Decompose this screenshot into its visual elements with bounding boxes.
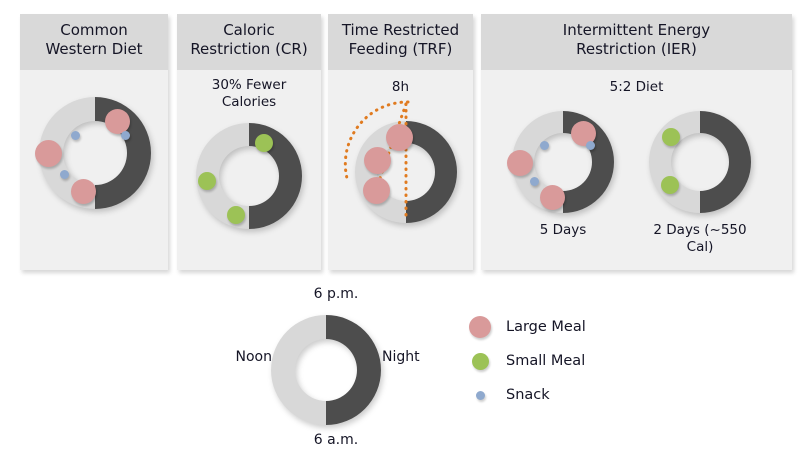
panel-common-western-diet: Common Western Diet	[20, 14, 168, 270]
meal-dot-large-meal	[386, 124, 413, 151]
meal-dot-large-meal	[71, 179, 96, 204]
panel-title-line1: Time Restricted	[332, 21, 469, 40]
panel-title-caloric-restriction: Caloric Restriction (CR)	[177, 14, 321, 70]
sublabel-line2: Calories	[177, 94, 321, 111]
panel-title-intermittent-energy-restriction: Intermittent Energy Restriction (IER)	[481, 14, 792, 70]
donut-caption-5-days: 5 Days	[507, 222, 619, 239]
donut-caption-2-days: 2 Days (~550 Cal)	[633, 222, 767, 256]
donut-clock-key	[266, 310, 386, 430]
meal-dot-snack	[121, 131, 130, 140]
feeding-window-annotation	[336, 90, 466, 230]
clock-label-top: 6 p.m.	[296, 286, 376, 303]
legend-label-large-meal: Large Meal	[498, 319, 586, 335]
legend-label-snack: Snack	[498, 387, 550, 403]
panel-body-intermittent-energy-restriction: 5:2 Diet 5 Days 2 Days (~550	[481, 70, 792, 270]
panel-title-line1: Caloric	[181, 21, 317, 40]
panel-title-common-western-diet: Common Western Diet	[20, 14, 168, 70]
panel-title-line2: Feeding (TRF)	[332, 40, 469, 59]
meal-dot-large-meal	[363, 177, 390, 204]
meal-dot-snack	[71, 131, 80, 140]
panel-intermittent-energy-restriction: Intermittent Energy Restriction (IER) 5:…	[481, 14, 792, 270]
donut-svg	[644, 106, 756, 218]
clock-label-right: Night	[382, 349, 442, 366]
panel-title-line2: Restriction (CR)	[181, 40, 317, 59]
meal-dot-snack	[530, 177, 539, 186]
donut-ier-5days-clock	[507, 106, 619, 218]
sublabel-line1: 30% Fewer	[177, 77, 321, 94]
legend-item-large-meal: Large Meal	[462, 310, 662, 344]
donut-caption-line1: 2 Days (~550	[633, 222, 767, 239]
donut-caption-line2: Cal)	[633, 239, 767, 256]
donut-cr-clock	[191, 118, 307, 234]
legend-swatch-box	[462, 391, 498, 400]
panel-title-line1: Intermittent Energy	[485, 21, 788, 40]
panel-body-common-western-diet	[20, 70, 168, 270]
legend-item-snack: Snack	[462, 378, 662, 412]
donut-cwd-clock	[34, 92, 156, 214]
panel-title-line2: Western Diet	[24, 40, 164, 59]
panel-title-line2: Restriction (IER)	[485, 40, 788, 59]
legend-label-small-meal: Small Meal	[498, 353, 585, 369]
panel-title-line1: Common	[24, 21, 164, 40]
legend-swatch-box	[462, 316, 498, 338]
panel-sublabel-intermittent-energy-restriction: 5:2 Diet	[481, 70, 792, 96]
donut-ier-2days-clock	[644, 106, 756, 218]
panel-caloric-restriction: Caloric Restriction (CR) 30% Fewer Calor…	[177, 14, 321, 270]
meal-dot-small-meal	[198, 172, 216, 190]
snack-dot-icon	[476, 391, 485, 400]
clock-label-left: Noon	[216, 349, 272, 366]
meal-dot-small-meal	[227, 206, 245, 224]
meal-dot-snack	[60, 170, 69, 179]
meal-dot-small-meal	[661, 176, 679, 194]
panel-body-caloric-restriction: 30% Fewer Calories	[177, 70, 321, 270]
small-meal-dot-icon	[472, 353, 489, 370]
panel-title-time-restricted-feeding: Time Restricted Feeding (TRF)	[328, 14, 473, 70]
panel-time-restricted-feeding: Time Restricted Feeding (TRF) 8h	[328, 14, 473, 270]
clock-label-bottom: 6 a.m.	[296, 432, 376, 449]
meal-dot-small-meal	[662, 128, 680, 146]
legend-item-small-meal: Small Meal	[462, 344, 662, 378]
meal-dot-large-meal	[507, 150, 533, 176]
meal-dot-snack	[586, 141, 595, 150]
meal-dot-small-meal	[255, 134, 273, 152]
legend: Large Meal Small Meal Snack	[462, 310, 662, 430]
donut-svg	[266, 310, 386, 430]
meal-dot-large-meal	[364, 147, 391, 174]
time-of-day-key: 6 p.m. 6 a.m. Noon Night	[196, 286, 456, 456]
panel-body-time-restricted-feeding: 8h	[328, 70, 473, 270]
panel-sublabel-caloric-restriction: 30% Fewer Calories	[177, 70, 321, 111]
donut-trf-clock	[350, 102, 474, 232]
meal-dot-large-meal	[35, 140, 62, 167]
legend-swatch-box	[462, 353, 498, 370]
meal-dot-large-meal	[540, 185, 565, 210]
large-meal-dot-icon	[469, 316, 491, 338]
meal-dot-snack	[540, 141, 549, 150]
